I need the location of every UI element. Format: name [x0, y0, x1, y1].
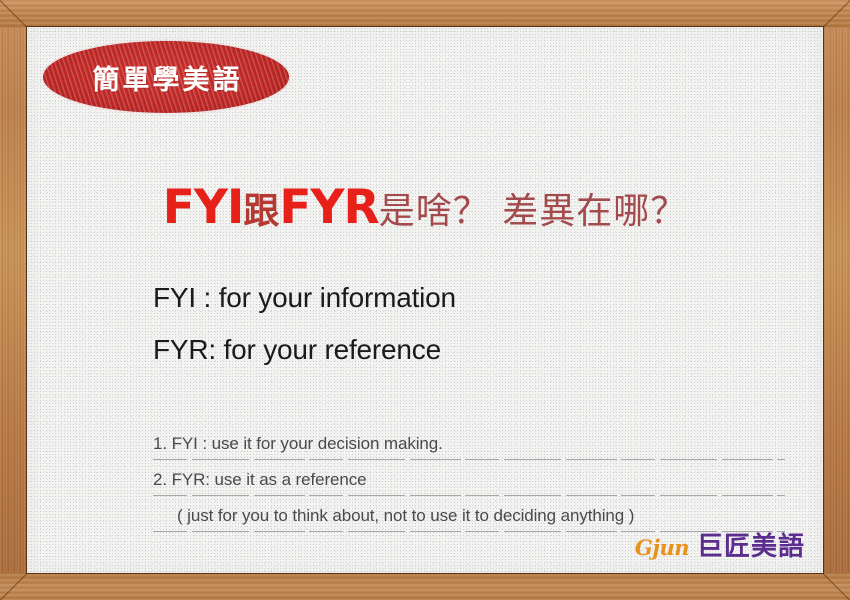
frame-rail-top: [0, 0, 850, 28]
note-row: 2. FYR: use it as a reference: [153, 460, 783, 496]
note-item-1: 1. FYI : use it for your decision making…: [153, 434, 443, 454]
definition-fyr: FYR: for your reference: [153, 334, 456, 366]
note-row: 1. FYI : use it for your decision making…: [153, 424, 783, 460]
title-segment-question: 是啥？ 差異在哪？: [379, 191, 687, 232]
brand-badge-label: 簡單學美語: [43, 41, 289, 113]
note-item-2: 2. FYR: use it as a reference: [153, 470, 366, 490]
page-title: FYI跟FYR是啥？ 差異在哪？: [27, 182, 823, 234]
note-item-3: ( just for you to think about, not to us…: [177, 506, 634, 526]
definition-fyi: FYI : for your information: [153, 282, 456, 314]
notes-list: 1. FYI : use it for your decision making…: [153, 424, 783, 532]
brand-badge: 簡單學美語: [43, 41, 289, 113]
frame-rail-bottom: [0, 572, 850, 600]
logo-latin-wordmark: Gjun: [635, 535, 689, 560]
title-segment-conjunction: 跟: [243, 191, 279, 232]
company-logo: Gjun 巨匠美語: [635, 526, 805, 563]
title-segment-fyi: FYI: [163, 180, 244, 235]
title-segment-fyr: FYR: [279, 180, 378, 235]
whiteboard-surface: 簡單學美語 FYI跟FYR是啥？ 差異在哪？ FYI : for your in…: [27, 27, 823, 573]
definition-list: FYI : for your information FYR: for your…: [153, 282, 456, 386]
logo-chinese-wordmark: 巨匠美語: [697, 526, 805, 563]
slide-canvas: 簡單學美語 FYI跟FYR是啥？ 差異在哪？ FYI : for your in…: [0, 0, 850, 600]
